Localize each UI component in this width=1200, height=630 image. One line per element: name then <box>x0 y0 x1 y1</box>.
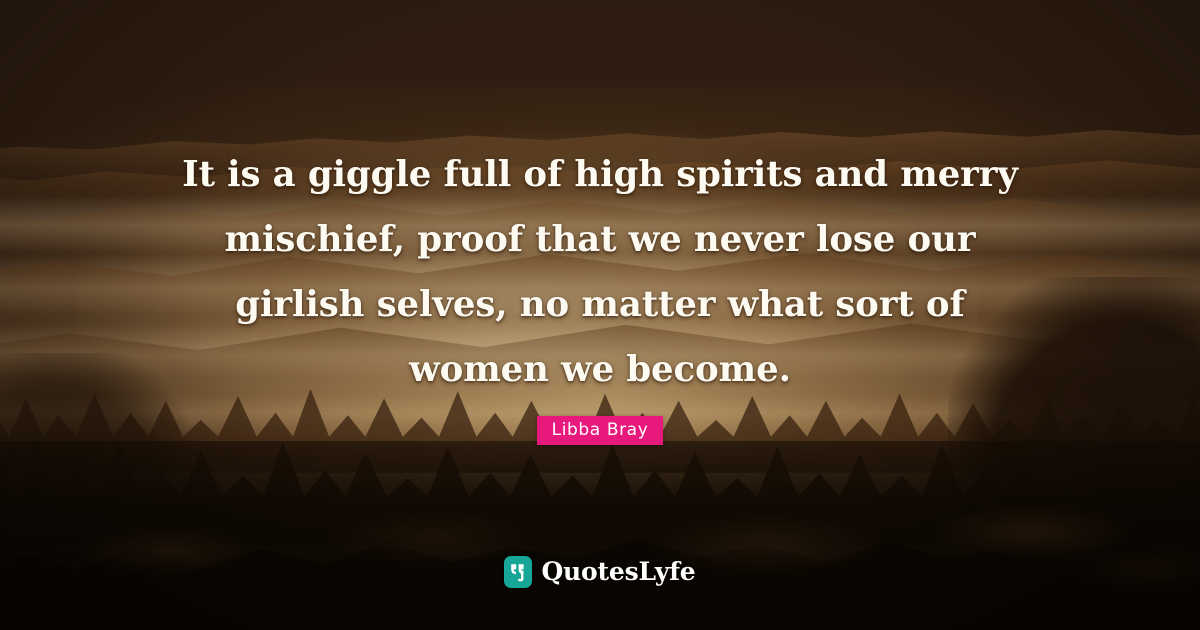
brand-name: QuotesLyfe <box>541 558 695 586</box>
quote-text: It is a giggle full of high spirits and … <box>165 142 1035 402</box>
content-overlay: It is a giggle full of high spirits and … <box>0 0 1200 630</box>
quote-card: It is a giggle full of high spirits and … <box>0 0 1200 630</box>
brand-logo[interactable]: QuotesLyfe <box>0 556 1200 588</box>
author-attribution: Libba Bray <box>537 416 664 445</box>
quote-mark-icon <box>504 556 532 588</box>
author-name-badge[interactable]: Libba Bray <box>537 416 664 445</box>
